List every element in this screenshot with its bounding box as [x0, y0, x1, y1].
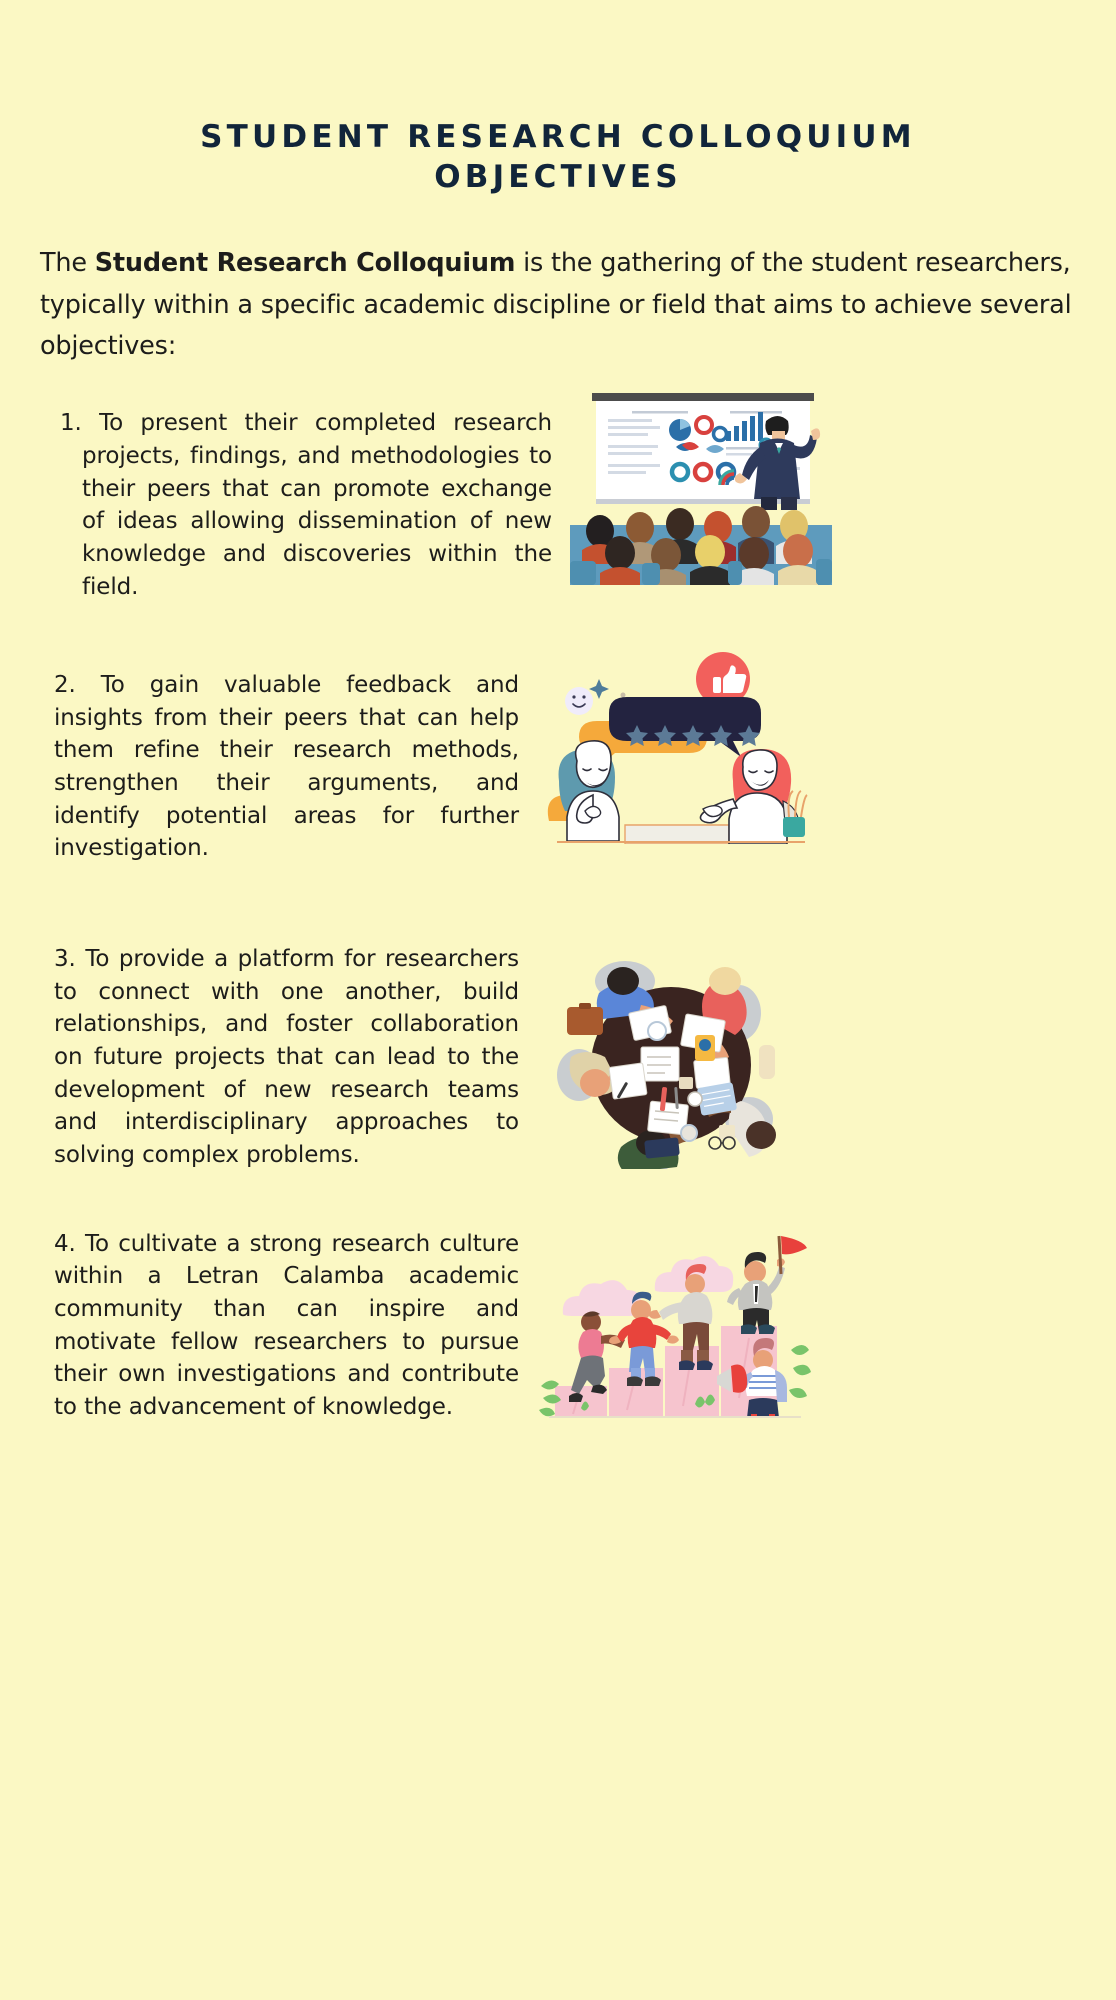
objective-3-number: 3. [54, 946, 76, 972]
objective-2-text: 2. To gain valuable feedback and insight… [54, 669, 519, 865]
infographic-page: STUDENT RESEARCH COLLOQUIUM OBJECTIVES T… [0, 0, 1116, 2000]
objective-4-number: 4. [54, 1231, 76, 1257]
objective-item-2: 2. To gain valuable feedback and insight… [40, 669, 1092, 865]
intro-bold-term: Student Research Colloquium [95, 248, 516, 278]
peer-feedback-conversation-illustration [537, 639, 809, 844]
objective-item-4: 4. To cultivate a strong research cultur… [40, 1228, 1092, 1424]
conference-presentation-illustration [570, 385, 832, 585]
objective-2-number: 2. [54, 672, 76, 698]
page-title: STUDENT RESEARCH COLLOQUIUM OBJECTIVES [0, 0, 1116, 197]
title-line-2: OBJECTIVES [0, 158, 1116, 198]
objective-1-body: To present their completed research proj… [82, 410, 552, 599]
intro-before-bold: The [40, 248, 95, 278]
intro-paragraph: The Student Research Colloquium is the g… [40, 243, 1078, 367]
objective-4-text: 4. To cultivate a strong research cultur… [54, 1228, 519, 1424]
objective-1-number: 1. [60, 410, 82, 436]
objective-3-body: To provide a platform for researchers to… [54, 946, 519, 1168]
objective-4-body: To cultivate a strong research culture w… [54, 1231, 519, 1420]
objective-3-text: 3. To provide a platform for researchers… [54, 943, 519, 1172]
objective-1-text: 1. To present their completed research p… [60, 407, 552, 603]
team-collaboration-table-illustration [553, 947, 789, 1169]
career-growth-steps-illustration [539, 1218, 811, 1418]
objective-item-1: 1. To present their completed research p… [40, 407, 1092, 603]
title-line-1: STUDENT RESEARCH COLLOQUIUM [0, 118, 1116, 158]
objective-item-3: 3. To provide a platform for researchers… [40, 943, 1092, 1172]
objective-2-body: To gain valuable feedback and insights f… [54, 672, 519, 861]
